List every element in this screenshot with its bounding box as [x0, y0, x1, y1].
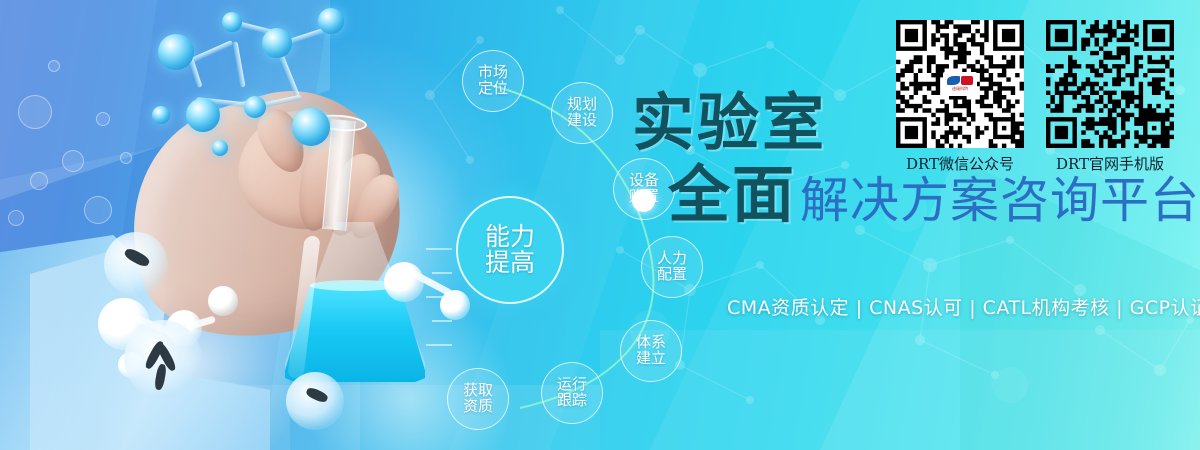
qr-code-mobile-website[interactable]: DRT官网手机版 [1046, 20, 1174, 174]
qr-code-caption: DRT官网手机版 [1056, 153, 1164, 174]
certification-list: CMA资质认定 | CNAS认可 | CATL机构考核 | GCP认证 | 6S… [727, 293, 1200, 320]
promo-banner: 市场定位规划建设设备购置人力配置体系建立运行跟踪获取资质能力提高 实验室 全面 … [0, 0, 1200, 450]
process-badge-capability-improvement[interactable]: 能力提高 [456, 196, 564, 304]
headline-emphasis: 全面 [668, 164, 796, 226]
bullet-dot-icon [632, 189, 655, 212]
badge-label-line2: 定位 [478, 81, 508, 97]
qr-center-logo: 迪瑞科特 [943, 72, 977, 96]
qr-code-image: 迪瑞科特 [896, 20, 1024, 148]
qr-code-group: 迪瑞科特DRT微信公众号DRT官网手机版 [896, 20, 1174, 174]
badge-label-line2: 资质 [463, 399, 493, 415]
process-badge-system-establishment[interactable]: 体系建立 [620, 320, 682, 382]
badge-label-line2: 建设 [567, 113, 597, 129]
badge-label-line2: 配置 [657, 267, 687, 283]
qr-code-caption: DRT微信公众号 [906, 153, 1014, 174]
process-badge-staffing[interactable]: 人力配置 [641, 236, 703, 298]
headline-subtitle: 解决方案咨询平台 [800, 176, 1200, 225]
qr-code-wechat-official-account[interactable]: 迪瑞科特DRT微信公众号 [896, 20, 1024, 174]
process-badge-market-positioning[interactable]: 市场定位 [462, 50, 524, 112]
process-badge-planning-construction[interactable]: 规划建设 [551, 82, 613, 144]
process-badge-operation-tracking[interactable]: 运行跟踪 [541, 362, 603, 424]
process-badge-obtain-qualification[interactable]: 获取资质 [447, 368, 509, 430]
badge-label-line1: 能力 [485, 224, 535, 251]
badge-label-line2: 建立 [636, 351, 666, 367]
badge-label-line2: 跟踪 [557, 393, 587, 409]
qr-code-image [1046, 20, 1174, 148]
badge-label-line2: 提高 [485, 250, 535, 277]
